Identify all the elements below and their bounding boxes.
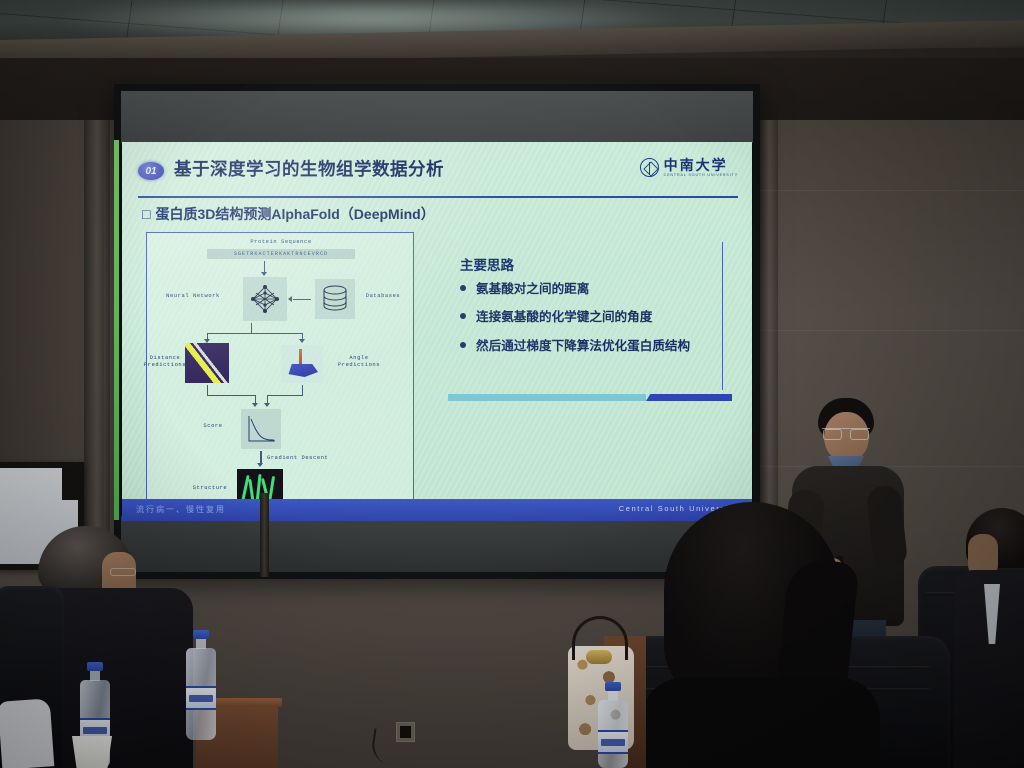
arrow-nn-split-l	[251, 323, 252, 333]
diagram-label-angle-predictions: Angle Predictions	[329, 355, 389, 370]
section-number-badge: 01	[138, 162, 164, 180]
bottle-label	[598, 730, 628, 754]
list-item: 连接氨基酸的化学键之间的角度	[460, 308, 732, 326]
handbag-clasp	[586, 650, 612, 664]
list-item: 氨基酸对之间的距离	[460, 280, 732, 298]
slide-subheading: □蛋白质3D结构预测AlphaFold（DeepMind）	[142, 204, 435, 224]
whiteboard-bracket	[62, 466, 78, 500]
diagram-label-protein-sequence: Protein Sequence	[207, 239, 355, 246]
diagram-label-neural-network: Neural Network	[149, 293, 237, 300]
university-logo: 中南大学 CENTRAL SOUTH UNIVERSITY	[640, 158, 738, 178]
main-ideas-list: 氨基酸对之间的距离 连接氨基酸的化学键之间的角度 然后通过梯度下降算法优化蛋白质…	[460, 280, 732, 365]
university-emblem-icon	[640, 158, 659, 177]
list-item-label: 然后通过梯度下降算法优化蛋白质结构	[476, 339, 690, 353]
accent-bar	[448, 394, 732, 401]
diagram-label-structure: Structure	[183, 485, 237, 492]
screen-letterbox-top	[121, 91, 753, 143]
arrow-angle-in	[267, 395, 303, 396]
lecture-room-scene: 01 基于深度学习的生物组学数据分析 中南大学 CENTRAL SOUTH UN…	[0, 0, 1024, 768]
score-curve-icon	[241, 409, 281, 449]
list-item-label: 连接氨基酸的化学键之间的角度	[476, 310, 652, 324]
paper-cup	[72, 736, 112, 768]
presentation-slide: 01 基于深度学习的生物组学数据分析 中南大学 CENTRAL SOUTH UN…	[122, 142, 752, 521]
screen-stand	[260, 493, 269, 577]
audience-woman	[640, 502, 880, 768]
diagram-label-gradient-descent: Gradient Descent	[267, 455, 359, 462]
diagram-label-databases: Databases	[353, 293, 413, 300]
angle-mesh	[286, 364, 318, 377]
university-logo-text: 中南大学 CENTRAL SOUTH UNIVERSITY	[664, 158, 738, 178]
woman-shoulders	[642, 678, 880, 768]
bullet-dot-icon	[460, 285, 466, 291]
slide-subheading-text: 蛋白质3D结构预测AlphaFold（DeepMind）	[155, 206, 434, 222]
accent-bar-blue	[646, 394, 732, 401]
list-item: 然后通过梯度下降算法优化蛋白质结构	[460, 337, 732, 355]
slide-title: 基于深度学习的生物组学数据分析	[174, 156, 444, 181]
arrowhead-dist-to-score	[252, 403, 258, 407]
main-ideas-heading: 主要思路	[460, 254, 514, 274]
database-icon	[317, 281, 353, 317]
diagram-label-score: Score	[189, 423, 237, 430]
bottle-label	[186, 686, 216, 710]
arrowhead-db-to-nn	[288, 296, 292, 302]
angle-peak	[299, 349, 302, 365]
bottle-cap	[605, 682, 621, 691]
bottle-cap	[193, 630, 209, 639]
arrowhead-score-to-structure	[257, 463, 263, 467]
wall-seam	[760, 330, 1024, 331]
right-column-rule	[722, 242, 723, 390]
university-name-en: CENTRAL SOUTH UNIVERSITY	[664, 174, 738, 178]
bottle-cap	[87, 662, 103, 671]
header-divider	[138, 196, 738, 198]
arrow-angle-down	[302, 385, 303, 395]
diagram-label-distance-predictions: Distance Predictions	[141, 355, 189, 370]
audience-white-shirt	[0, 698, 54, 768]
water-bottle	[598, 682, 628, 768]
angle-prediction-image	[281, 345, 323, 383]
arrow-db-to-nn	[293, 299, 311, 300]
water-bottle	[186, 630, 216, 740]
bullet-square-icon: □	[142, 206, 150, 222]
alphafold-pipeline-diagram: Protein Sequence SGETRKACTERKAKTRNCEVRCD	[146, 232, 414, 504]
arrowhead-seq-to-nn	[261, 272, 267, 276]
arrowhead-angle-to-score	[264, 403, 270, 407]
audience-man-right	[962, 508, 1024, 768]
arrowhead-to-angle	[299, 339, 305, 343]
glasses-icon	[110, 568, 136, 576]
arrow-dist-in	[207, 395, 255, 396]
bullet-dot-icon	[460, 313, 466, 319]
accent-bar-teal	[448, 394, 646, 401]
diagram-sequence-strip: SGETRKACTERKAKTRNCEVRCD	[207, 249, 355, 259]
list-item-label: 氨基酸对之间的距离	[476, 282, 589, 296]
slide-header: 01 基于深度学习的生物组学数据分析 中南大学 CENTRAL SOUTH UN…	[138, 156, 738, 196]
wall-seam	[760, 190, 1024, 191]
distance-prediction-image	[185, 343, 229, 383]
arrow-nn-split-h	[207, 333, 303, 334]
bullet-dot-icon	[460, 342, 466, 348]
neural-network-icon	[243, 277, 287, 321]
university-name-cn: 中南大学	[664, 158, 738, 172]
screen-edge-artifact	[114, 140, 119, 520]
glasses-icon	[822, 428, 870, 437]
arrow-dist-down	[207, 385, 208, 395]
slide-footer-left: 流行病一、慢性复用	[136, 504, 226, 515]
